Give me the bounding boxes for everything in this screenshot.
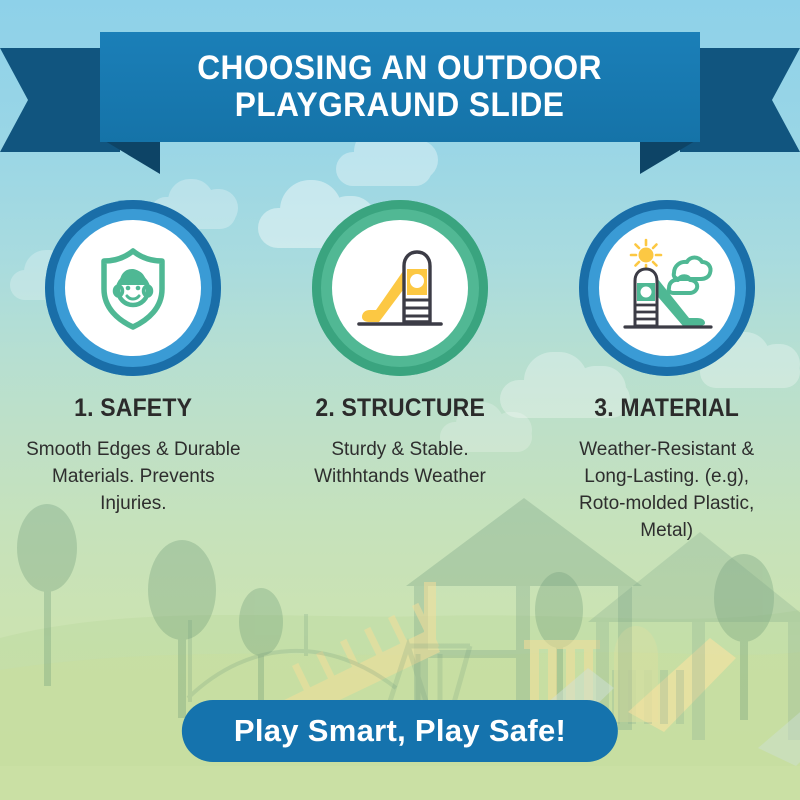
feature-body-material: Weather-Resistant & Long-Lasting. (e.g),… xyxy=(559,437,775,545)
feature-heading-safety: 1. SAFETY xyxy=(74,394,192,423)
shield-child-icon xyxy=(87,242,179,334)
ribbon-main-panel: CHOOSING AN OUTDOOR PLAYGRAUND SLIDE xyxy=(100,32,700,142)
icon-disc xyxy=(332,220,468,356)
icon-badge-material-wrap: 3. MATERIAL Weather-Resistant & Long-Las… xyxy=(533,200,800,620)
ribbon-fold-right xyxy=(640,138,700,174)
feature-columns: 1. SAFETY Smooth Edges & Durable Materia… xyxy=(0,200,800,620)
sun-icon xyxy=(631,240,661,270)
feature-body-structure: Sturdy & Stable. Withhtands Weather xyxy=(292,437,508,491)
page-title-line-1: CHOOSING AN OUTDOOR xyxy=(198,50,603,87)
slide-tower-icon xyxy=(352,240,448,336)
feature-heading-material: 3. MATERIAL xyxy=(594,394,739,423)
feature-heading-structure: 2. STRUCTURE xyxy=(315,394,485,423)
title-ribbon-banner: CHOOSING AN OUTDOOR PLAYGRAUND SLIDE xyxy=(0,32,800,182)
icon-badge-safety xyxy=(45,200,221,376)
icon-badge-material xyxy=(579,200,755,376)
icon-disc xyxy=(599,220,735,356)
icon-badge-structure xyxy=(312,200,488,376)
page-title: CHOOSING AN OUTDOOR PLAYGRAUND SLIDE xyxy=(198,50,603,123)
infographic-canvas: CHOOSING AN OUTDOOR PLAYGRAUND SLIDE xyxy=(0,0,800,800)
page-title-line-2: PLAYGRAUND SLIDE xyxy=(198,87,603,124)
cta-button[interactable]: Play Smart, Play Safe! xyxy=(182,700,618,762)
feature-column-safety: 1. SAFETY Smooth Edges & Durable Materia… xyxy=(0,200,267,620)
feature-body-safety: Smooth Edges & Durable Materials. Preven… xyxy=(25,437,241,518)
cloud-icon xyxy=(668,258,710,294)
slide-sun-cloud-icon xyxy=(617,238,717,338)
icon-disc xyxy=(65,220,201,356)
feature-column-structure: 2. STRUCTURE Sturdy & Stable. Withhtands… xyxy=(267,200,534,620)
ribbon-fold-left xyxy=(100,138,160,174)
